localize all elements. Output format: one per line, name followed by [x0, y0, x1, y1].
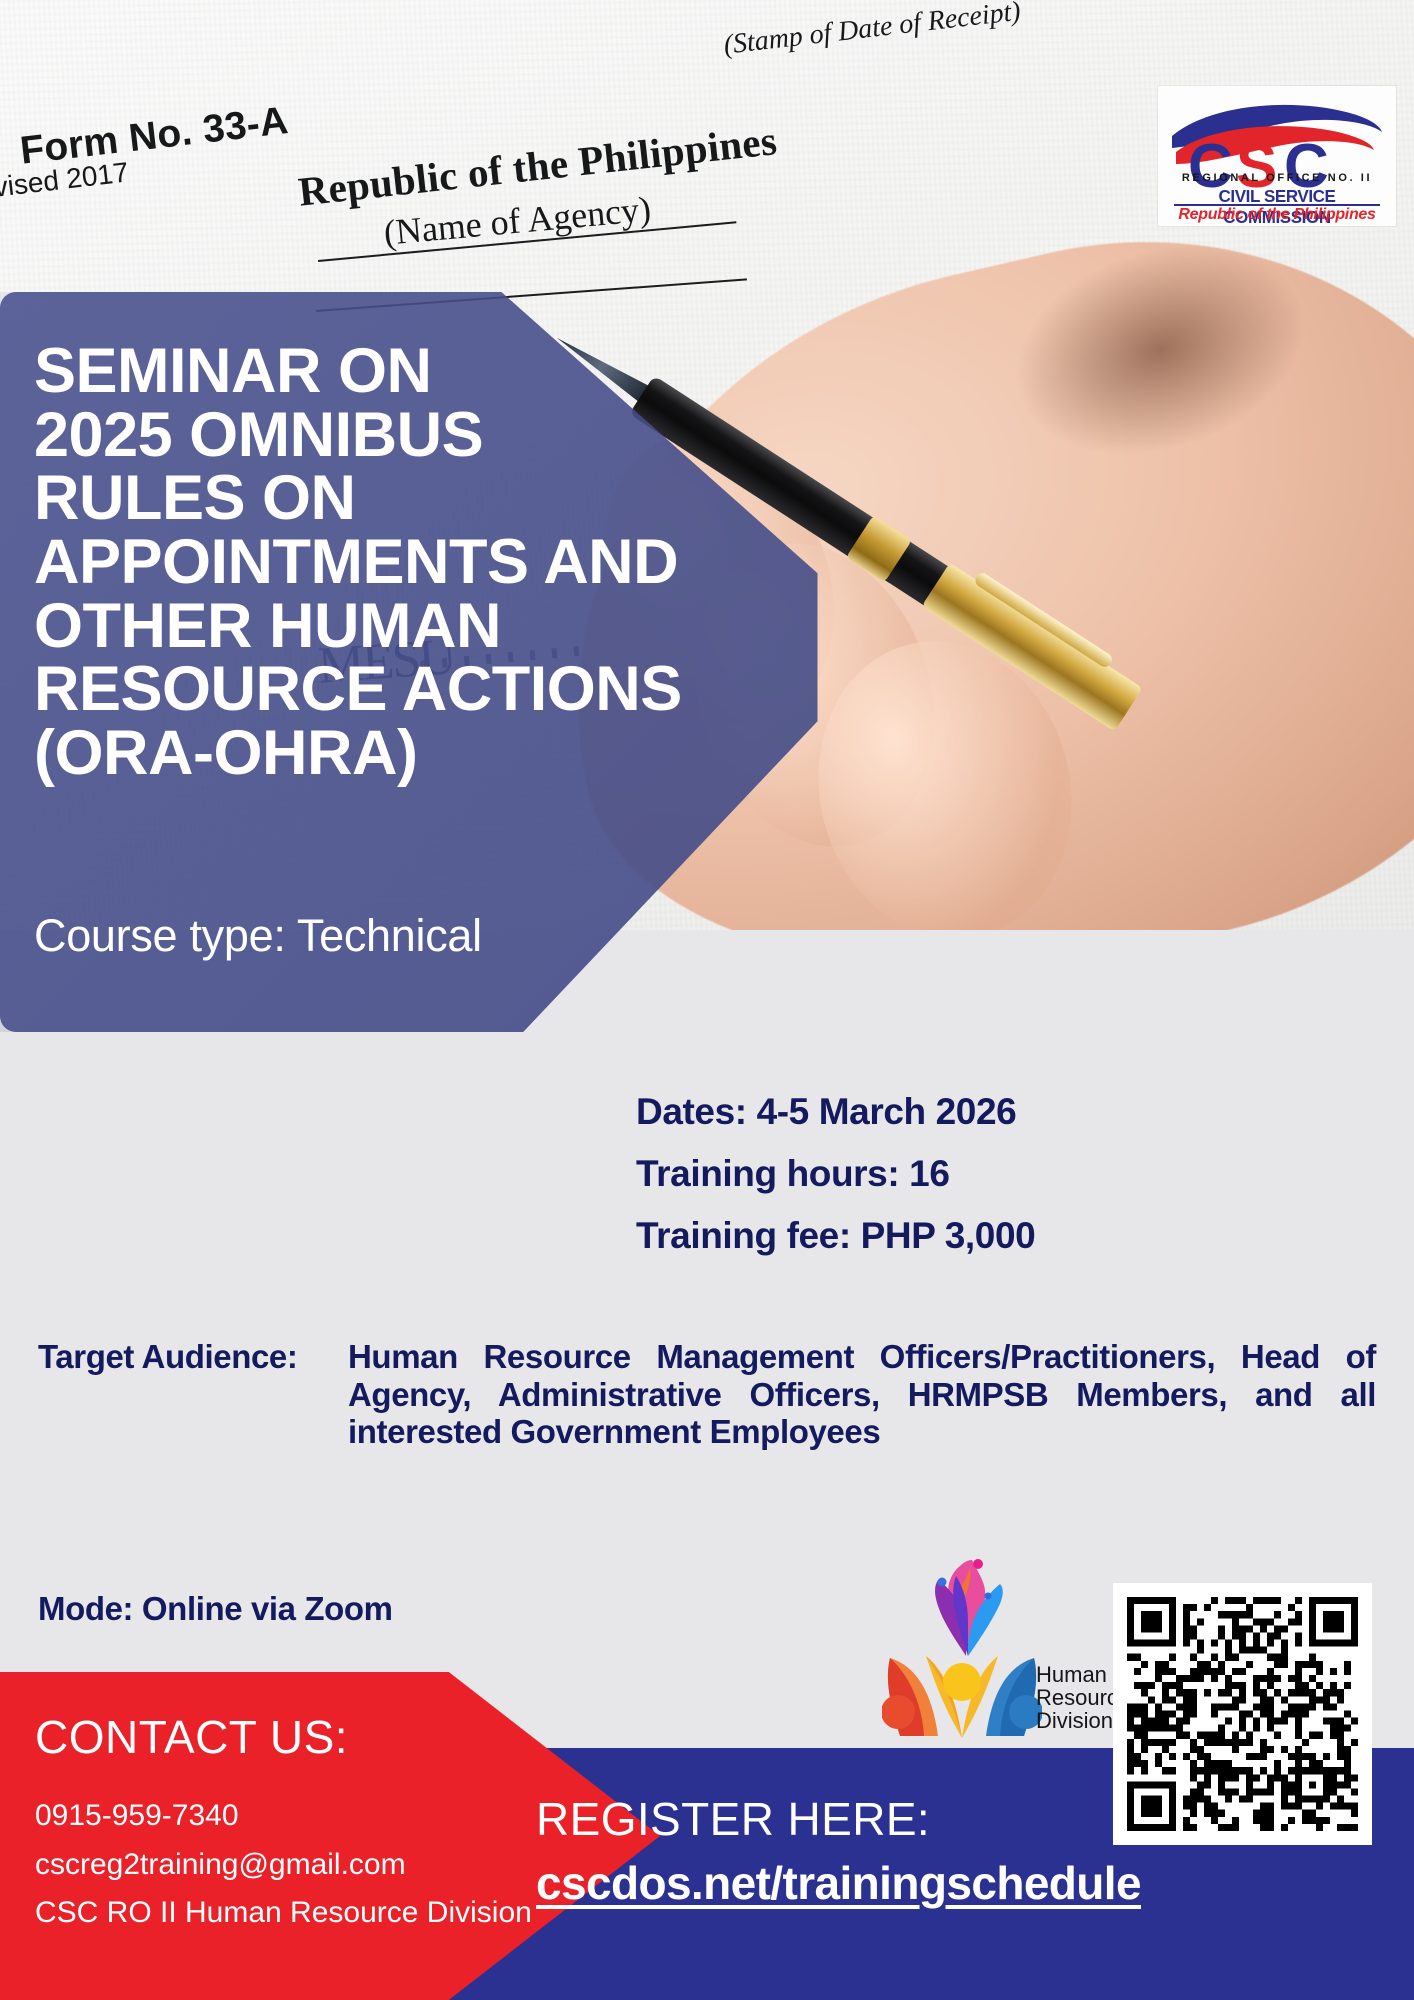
csc-republic-label: Republic of the Philippines: [1166, 206, 1388, 224]
title-line-6: RESOURCE ACTIONS: [34, 658, 734, 722]
title-line-5: OTHER HUMAN: [34, 595, 734, 659]
qr-code-image[interactable]: [1127, 1597, 1358, 1831]
title-line-1: SEMINAR ON: [34, 340, 734, 404]
contact-heading: CONTACT US:: [35, 1710, 348, 1764]
target-audience-text: Human Resource Management Officers/Pract…: [348, 1338, 1376, 1451]
csc-regional-office-label: REGIONAL OFFICE NO. II: [1174, 172, 1380, 184]
dates-label: Dates: 4-5 March 2026: [636, 1092, 1396, 1132]
target-audience-label: Target Audience:: [38, 1338, 297, 1376]
title-line-2: 2025 OMNIBUS: [34, 404, 734, 468]
mode-label: Mode: Online via Zoom: [38, 1590, 393, 1628]
contact-office: CSC RO II Human Resource Division: [35, 1889, 555, 1938]
training-fee-label: Training fee: PHP 3,000: [636, 1216, 1396, 1256]
title-line-4: APPOINTMENTS AND: [34, 531, 734, 595]
training-hours-label: Training hours: 16: [636, 1154, 1396, 1194]
csc-logo: C S C REGIONAL OFFICE NO. II CIVIL SERVI…: [1158, 86, 1396, 226]
contact-email[interactable]: cscreg2training@gmail.com: [35, 1841, 555, 1890]
title-line-3: RULES ON: [34, 467, 734, 531]
title-line-7: (ORA-OHRA): [34, 722, 734, 786]
register-url-link[interactable]: cscdos.net/trainingschedule: [536, 1856, 1141, 1910]
contact-phone[interactable]: 0915-959-7340: [35, 1792, 555, 1841]
training-details: Dates: 4-5 March 2026 Training hours: 16…: [636, 1092, 1396, 1278]
hr-division-logo: Human Resource Division: [870, 1558, 1118, 1738]
people-icon: [882, 1648, 1042, 1740]
seminar-poster: Form No. 33-A vised 2017 Republic of the…: [0, 0, 1414, 2000]
target-audience-block: Target Audience: Human Resource Manageme…: [38, 1338, 1376, 1451]
qr-code-card[interactable]: [1113, 1583, 1372, 1845]
page-title: SEMINAR ON 2025 OMNIBUS RULES ON APPOINT…: [34, 340, 734, 785]
course-type-label: Course type: Technical: [34, 910, 482, 962]
contact-details: 0915-959-7340 cscreg2training@gmail.com …: [35, 1792, 555, 1938]
register-here-label: REGISTER HERE:: [536, 1792, 930, 1846]
